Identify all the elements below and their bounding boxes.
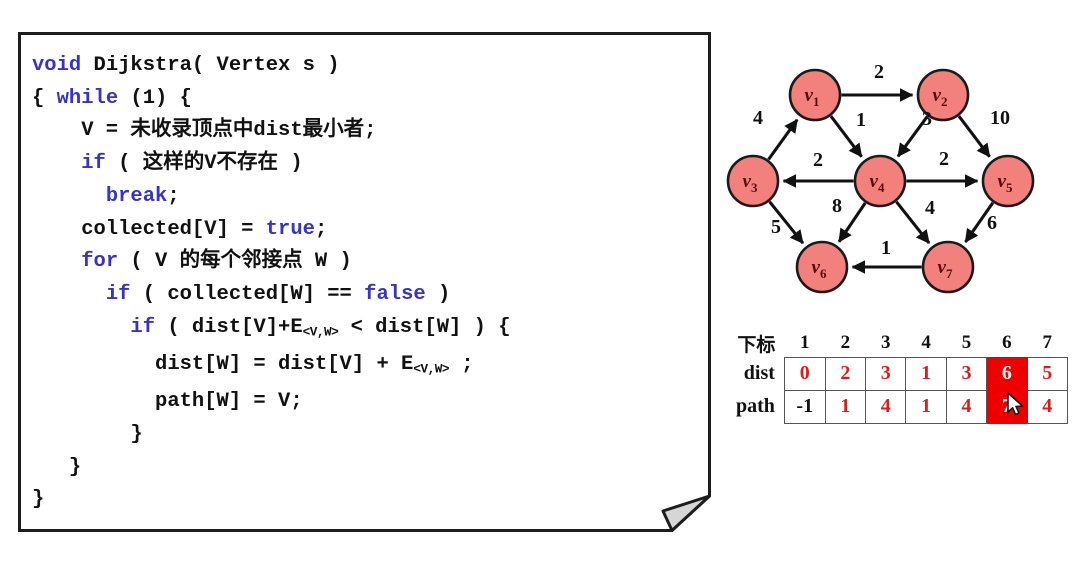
table-cell[interactable]: 1 xyxy=(825,390,865,423)
table-cell[interactable]: 4 xyxy=(866,390,906,423)
code-keyword: false xyxy=(364,283,426,306)
code-text: } xyxy=(32,488,44,511)
graph-svg: v1v2v3v4v5v6v7 2131042258461 xyxy=(718,46,1068,314)
table-cell[interactable]: 3 xyxy=(946,357,986,390)
code-line: if ( 这样的V不存在 ) xyxy=(32,148,702,181)
code-text: collected[V] = xyxy=(32,218,266,241)
code-text: ; xyxy=(315,218,327,241)
column-header: 3 xyxy=(866,330,906,357)
code-text: ) xyxy=(426,283,451,306)
column-header: 4 xyxy=(906,330,946,357)
code-subscript: <V,W> xyxy=(303,324,339,339)
code-keyword: void xyxy=(32,54,81,77)
column-header: 5 xyxy=(946,330,986,357)
code-text: ( collected[W] == xyxy=(130,283,364,306)
table-cell[interactable]: 1 xyxy=(906,357,946,390)
graph-diagram: v1v2v3v4v5v6v7 2131042258461 xyxy=(718,46,1068,314)
code-line: collected[V] = true; xyxy=(32,214,702,247)
table-cell[interactable]: 1 xyxy=(906,390,946,423)
code-text xyxy=(32,185,106,208)
table-cell[interactable]: 0 xyxy=(784,357,825,390)
table-cell[interactable]: 5 xyxy=(1027,357,1067,390)
table-cell[interactable]: 6 xyxy=(987,357,1027,390)
table-cell[interactable]: -1 xyxy=(784,390,825,423)
code-keyword: true xyxy=(266,218,315,241)
code-text xyxy=(32,316,130,339)
code-subscript: <V,W> xyxy=(413,361,449,376)
code-keyword: for xyxy=(81,250,118,273)
edge-weight-label: 3 xyxy=(922,108,932,130)
column-header: 2 xyxy=(825,330,865,357)
code-text xyxy=(32,283,106,306)
code-text: ( 这样的V不存在 ) xyxy=(106,152,303,175)
code-text: ; xyxy=(449,353,474,376)
column-header: 6 xyxy=(987,330,1027,357)
code-text: dist[W] = dist[V] + E xyxy=(32,353,413,376)
edge-weight-label: 6 xyxy=(987,212,997,234)
code-text xyxy=(32,152,81,175)
row-label-path: path xyxy=(716,390,784,423)
row-label-dist: dist xyxy=(716,357,784,390)
code-text: < dist[W] ) { xyxy=(338,316,510,339)
code-line: if ( dist[V]+E<V,W> < dist[W] ) { xyxy=(32,312,702,349)
code-text: V = 未收录顶点中dist最小者; xyxy=(32,119,376,142)
code-keyword: if xyxy=(81,152,106,175)
code-keyword: if xyxy=(130,316,155,339)
code-keyword: if xyxy=(106,283,131,306)
code-line: for ( V 的每个邻接点 W ) xyxy=(32,246,702,279)
code-text: } xyxy=(32,456,81,479)
edge-weight-label: 2 xyxy=(813,149,823,171)
table-header-row: 下标1234567 xyxy=(716,330,1068,357)
code-keyword: break xyxy=(106,185,168,208)
code-text: Dijkstra( Vertex s ) xyxy=(81,54,339,77)
table-cell[interactable]: 3 xyxy=(866,357,906,390)
table-row: path-1141474 xyxy=(716,390,1068,423)
code-keyword: while xyxy=(57,87,119,110)
table-row: dist0231365 xyxy=(716,357,1068,390)
code-line: } xyxy=(32,419,702,452)
code-text: (1) { xyxy=(118,87,192,110)
code-text: ( dist[V]+E xyxy=(155,316,303,339)
edge-weight-label: 4 xyxy=(753,107,763,129)
edge-weight-label: 1 xyxy=(856,109,866,131)
table-cell[interactable]: 2 xyxy=(825,357,865,390)
graph-edge xyxy=(768,120,797,160)
code-text: ( V 的每个邻接点 W ) xyxy=(118,250,352,273)
index-label: 下标 xyxy=(716,330,784,357)
code-line: } xyxy=(32,484,702,517)
edge-weight-label: 2 xyxy=(874,61,884,83)
code-panel: void Dijkstra( Vertex s ){ while (1) { V… xyxy=(18,32,711,532)
column-header: 1 xyxy=(784,330,825,357)
table-cell[interactable]: 7 xyxy=(987,390,1027,423)
code-text: } xyxy=(32,423,143,446)
edge-weight-label: 1 xyxy=(881,237,891,259)
code-line: { while (1) { xyxy=(32,83,702,116)
edge-weight-label: 10 xyxy=(990,107,1010,129)
code-line: V = 未收录顶点中dist最小者; xyxy=(32,115,702,148)
code-text: { xyxy=(32,87,57,110)
table-cell[interactable]: 4 xyxy=(946,390,986,423)
table: 下标1234567dist0231365path-1141474 xyxy=(716,330,1068,424)
dist-path-table: 下标1234567dist0231365path-1141474 xyxy=(716,330,1068,430)
code-line: break; xyxy=(32,181,702,214)
column-header: 7 xyxy=(1027,330,1067,357)
graph-edge xyxy=(959,116,990,157)
code-text xyxy=(32,250,81,273)
code-line: if ( collected[W] == false ) xyxy=(32,279,702,312)
code-line: } xyxy=(32,452,702,485)
code-text: path[W] = V; xyxy=(32,390,303,413)
edge-weight-label: 8 xyxy=(832,195,842,217)
code-line: void Dijkstra( Vertex s ) xyxy=(32,50,702,83)
code-listing: void Dijkstra( Vertex s ){ while (1) { V… xyxy=(32,50,702,517)
edge-weight-label: 2 xyxy=(939,148,949,170)
code-line: dist[W] = dist[V] + E<V,W> ; xyxy=(32,349,702,386)
edge-weight-label: 5 xyxy=(771,216,781,238)
edge-weight-label: 4 xyxy=(925,197,935,219)
graph-edge xyxy=(839,203,865,242)
code-line: path[W] = V; xyxy=(32,386,702,419)
code-text: ; xyxy=(167,185,179,208)
table-cell[interactable]: 4 xyxy=(1027,390,1067,423)
